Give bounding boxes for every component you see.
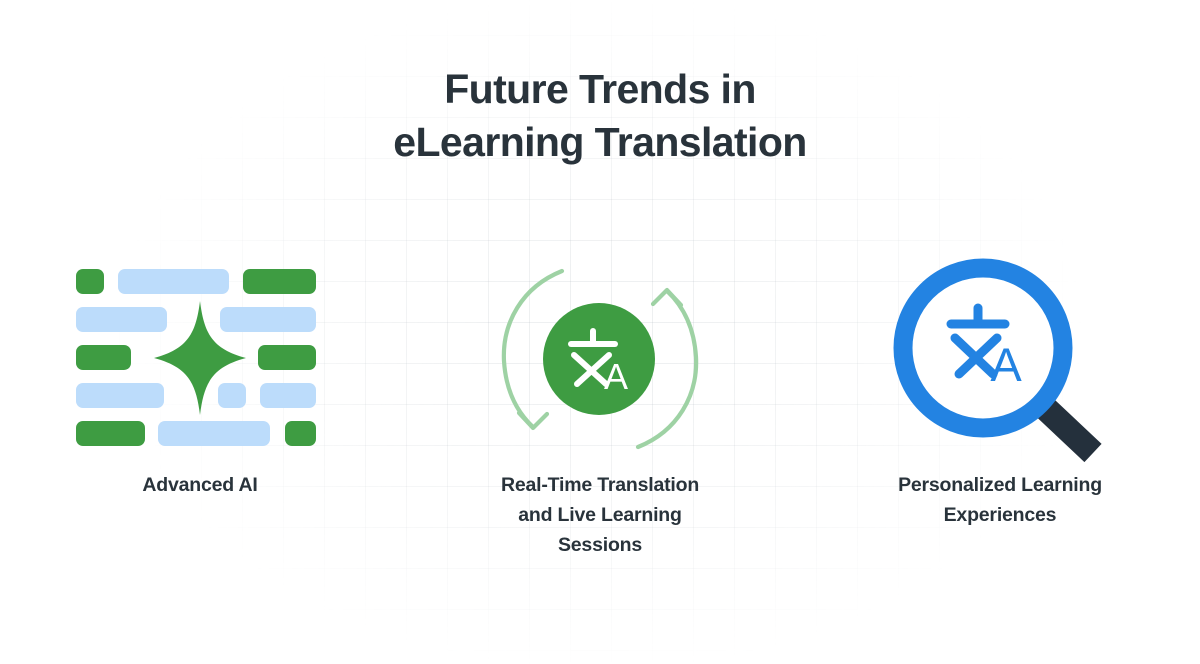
ai-bar — [285, 421, 316, 446]
trend-item-advanced-ai: Advanced AI — [0, 248, 400, 500]
caption-line: Real-Time Translation — [501, 474, 699, 496]
ai-bar — [76, 345, 131, 370]
caption-personalized-learning: Personalized Learning Experiences — [898, 470, 1102, 530]
ai-bar — [118, 269, 229, 294]
page-title: Future Trends in eLearning Translation — [0, 63, 1200, 169]
magnifier-handle — [1041, 404, 1093, 453]
ai-bar — [243, 269, 316, 294]
caption-line: Sessions — [558, 534, 642, 556]
sparkle-icon — [154, 301, 246, 415]
translate-glyph-icon: A — [543, 303, 655, 415]
icon-slot-real-time-translation: A — [500, 248, 700, 470]
infographic-canvas: Future Trends in eLearning Translation — [0, 0, 1200, 664]
ai-bar — [258, 345, 316, 370]
translate-sync-circle-icon: A — [500, 261, 700, 457]
ai-bar — [76, 421, 145, 446]
page-title-line-1: Future Trends in — [0, 63, 1200, 116]
ai-bar — [76, 269, 104, 294]
ai-bar — [158, 421, 270, 446]
caption-line: and Live Learning — [518, 504, 681, 526]
caption-line: Personalized Learning — [898, 474, 1102, 496]
trend-item-personalized-learning: A Personalized Learning Experiences — [800, 248, 1200, 530]
caption-line: Experiences — [944, 504, 1057, 526]
magnifier-translate-icon: A — [889, 254, 1111, 464]
ai-bar — [260, 383, 316, 408]
page-title-line-2: eLearning Translation — [0, 116, 1200, 169]
trend-item-real-time-translation: A Real-Time Translation and Live Learnin… — [400, 248, 800, 560]
svg-text:A: A — [990, 338, 1022, 391]
ai-bar — [76, 383, 164, 408]
svg-text:A: A — [604, 356, 628, 397]
ai-sparkle-text-grid-icon — [76, 269, 324, 449]
icon-slot-advanced-ai — [76, 248, 324, 470]
trend-columns: Advanced AI — [0, 248, 1200, 588]
magnifier-svg: A — [889, 254, 1111, 464]
caption-advanced-ai: Advanced AI — [142, 470, 257, 500]
caption-real-time-translation: Real-Time Translation and Live Learning … — [501, 470, 699, 560]
icon-slot-personalized-learning: A — [889, 248, 1111, 470]
